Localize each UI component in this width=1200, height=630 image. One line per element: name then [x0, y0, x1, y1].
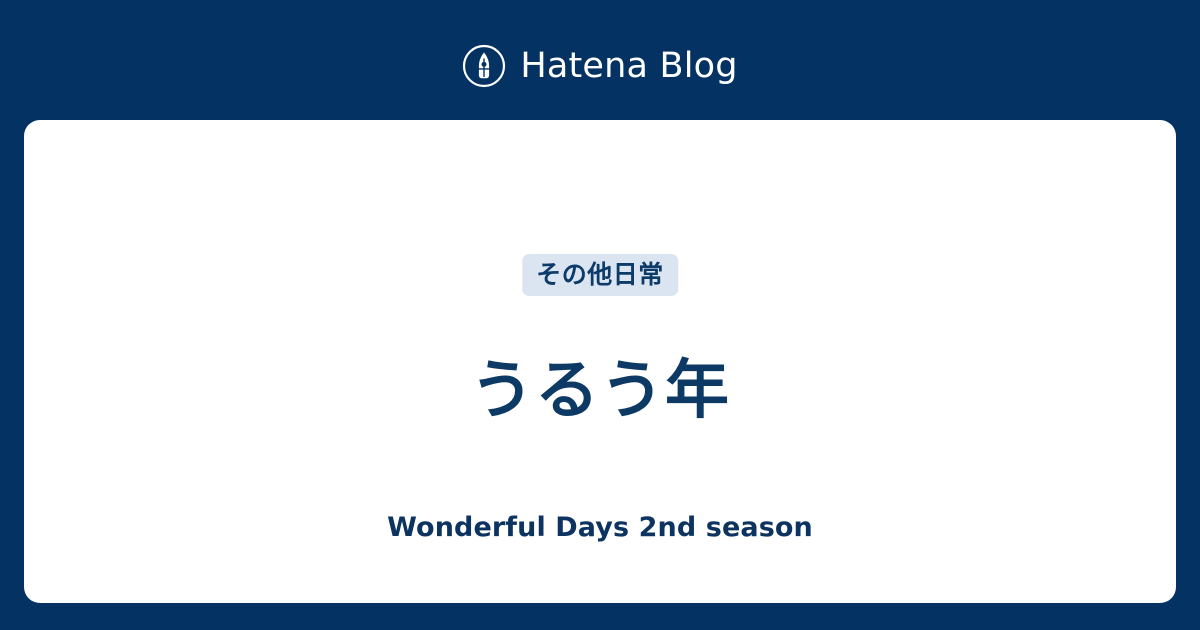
pen-nib-circle-icon: [462, 44, 506, 88]
entry-card-content: その他日常 うるう年 Wonderful Days 2nd season: [24, 120, 1176, 603]
entry-card: その他日常 うるう年 Wonderful Days 2nd season: [24, 120, 1176, 603]
blog-title[interactable]: Wonderful Days 2nd season: [24, 510, 1176, 546]
category-badge[interactable]: その他日常: [522, 254, 678, 296]
hatena-blog-brand[interactable]: Hatena Blog: [0, 38, 1200, 94]
ogp-share-card: Hatena Blog その他日常 うるう年 Wonderful Days 2n…: [0, 0, 1200, 630]
entry-title: うるう年: [24, 349, 1176, 433]
brand-name: Hatena Blog: [520, 44, 737, 88]
